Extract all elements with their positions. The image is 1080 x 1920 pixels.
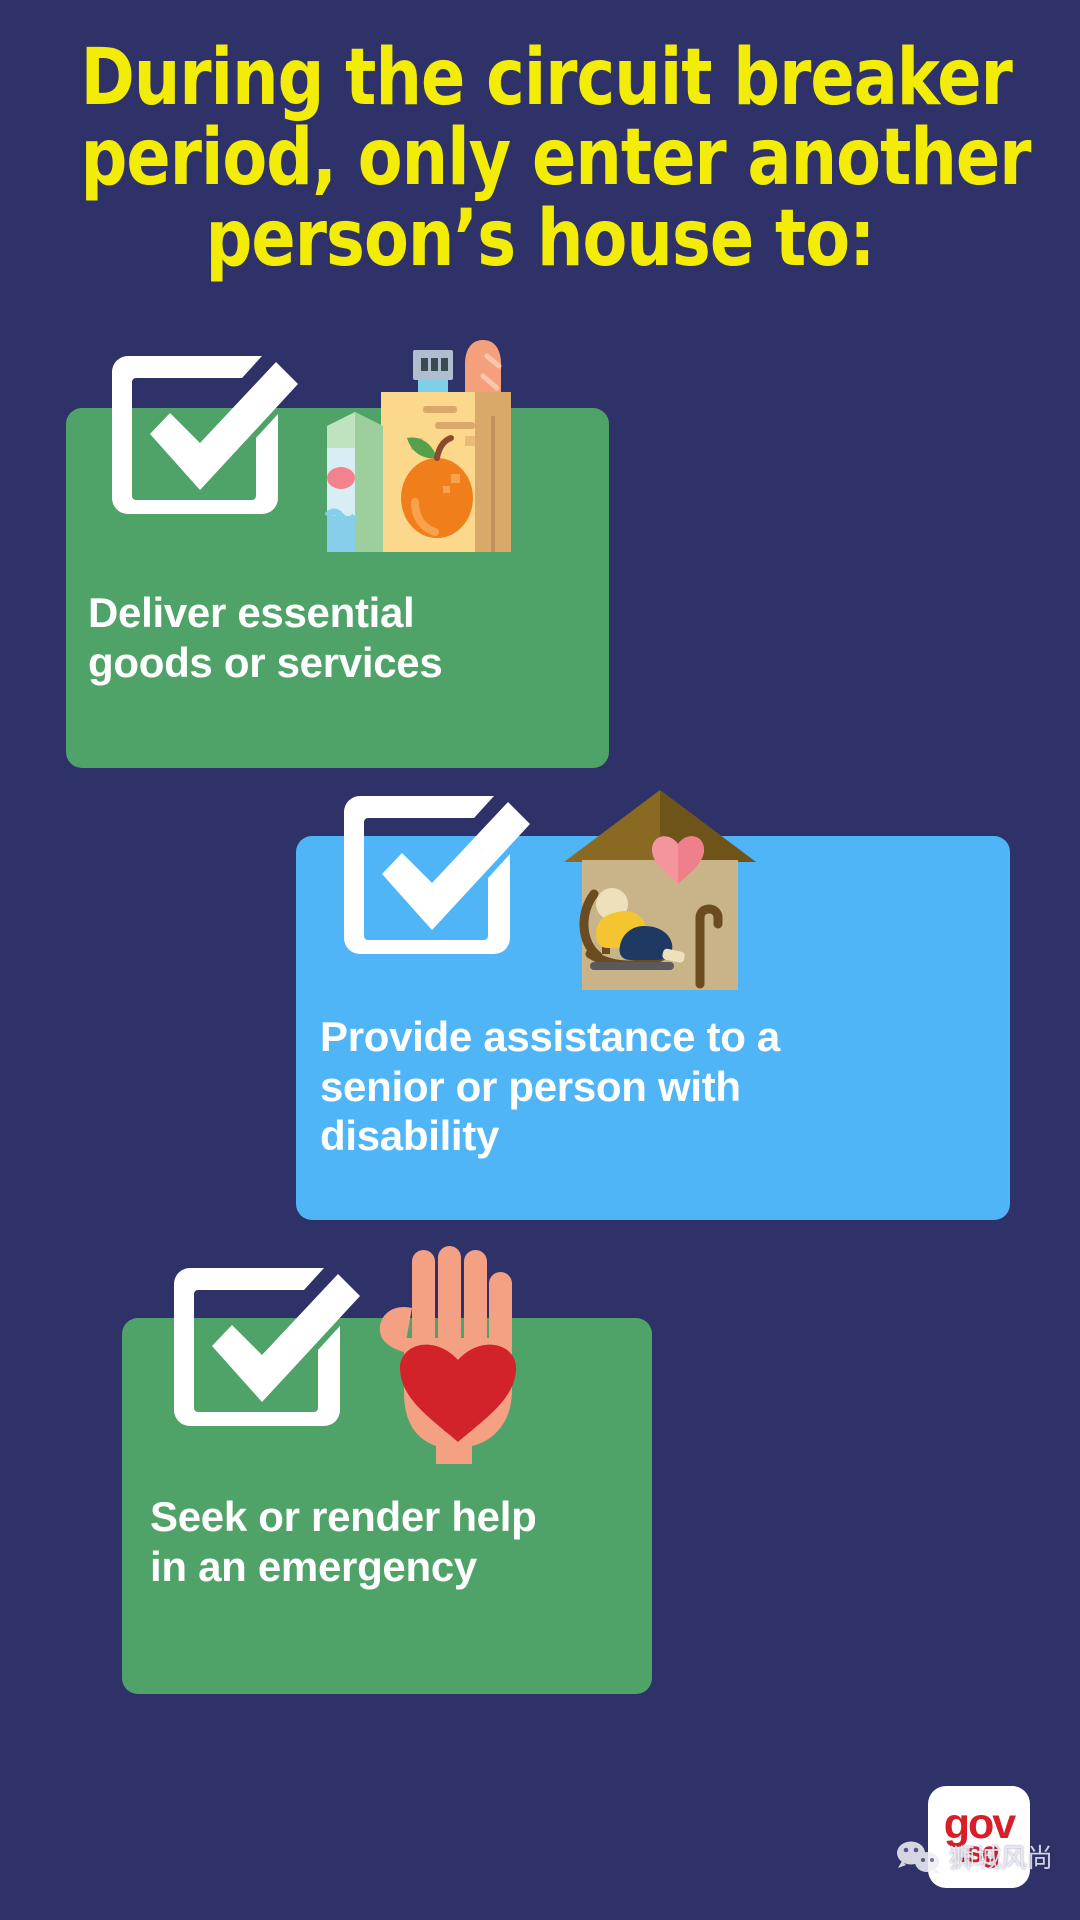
- page-title: During the circuit breaker period, only …: [38, 38, 1042, 279]
- checkbox-checked-icon: [318, 782, 540, 978]
- card-label-assist-senior: Provide assistance to a senior or person…: [320, 1012, 780, 1161]
- card1-line-2: goods or services: [88, 638, 442, 688]
- card3-line-2: in an emergency: [150, 1542, 536, 1592]
- house-with-senior-icon: [560, 786, 760, 992]
- wechat-account-name: 狮城风尚: [949, 1838, 1053, 1875]
- card1-line-1: Deliver essential: [88, 588, 442, 638]
- card2-line-2: senior or person with: [320, 1062, 780, 1112]
- title-line-1: During the circuit breaker: [81, 38, 1000, 118]
- wechat-watermark: 狮城风尚: [896, 1838, 1053, 1875]
- title-line-2: period, only enter another: [81, 118, 1000, 198]
- hand-with-heart-icon: [378, 1246, 538, 1464]
- card-label-deliver-goods: Deliver essential goods or services: [88, 588, 442, 687]
- title-line-3: person’s house to:: [81, 199, 1000, 279]
- grocery-bag-icon: [325, 326, 555, 552]
- checkbox-checked-icon: [86, 342, 308, 538]
- card-label-emergency-help: Seek or render help in an emergency: [150, 1492, 536, 1591]
- wechat-icon: [896, 1840, 942, 1874]
- card2-line-1: Provide assistance to a: [320, 1012, 780, 1062]
- card2-line-3: disability: [320, 1111, 780, 1161]
- checkbox-checked-icon: [148, 1254, 370, 1450]
- infographic-poster: During the circuit breaker period, only …: [0, 0, 1080, 1920]
- card3-line-1: Seek or render help: [150, 1492, 536, 1542]
